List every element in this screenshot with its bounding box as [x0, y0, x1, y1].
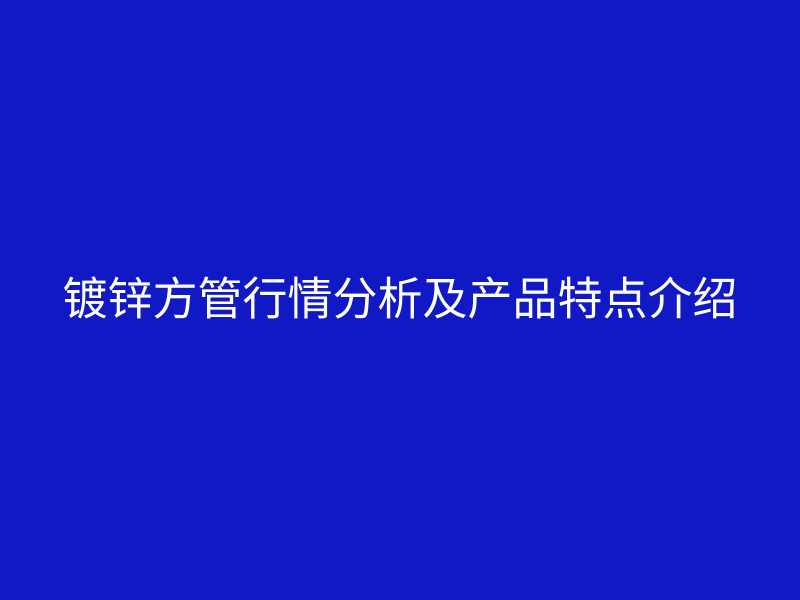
page-title: 镀锌方管行情分析及产品特点介绍	[62, 277, 737, 322]
headline-container: 镀锌方管行情分析及产品特点介绍	[0, 277, 800, 322]
banner-canvas: 镀锌方管行情分析及产品特点介绍	[0, 0, 800, 600]
